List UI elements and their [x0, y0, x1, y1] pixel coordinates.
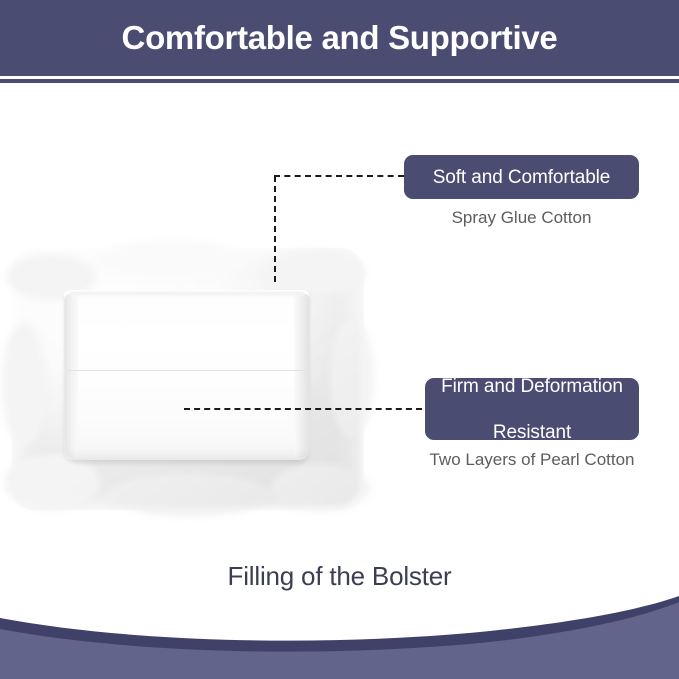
callout-2-label-line1: Firm and Deformation — [441, 375, 623, 398]
callout-2-label-line2: Resistant — [441, 421, 623, 444]
leader-line-1-vertical — [274, 176, 276, 282]
inner-cushion-top-fold — [70, 292, 304, 296]
header-banner: Comfortable and Supportive — [0, 0, 679, 76]
leader-line-1-horizontal — [274, 175, 404, 177]
inner-cushion-left-bevel — [64, 294, 78, 458]
callout-1-sublabel: Spray Glue Cotton — [404, 208, 639, 228]
callout-badge-firm-and-deformation-resistant: Firm and DeformationResistant — [425, 378, 639, 440]
bottom-caption: Filling of the Bolster — [0, 561, 679, 592]
bolster-filling-illustration — [12, 248, 364, 510]
callout-badge-soft-and-comfortable: Soft and Comfortable — [404, 155, 639, 199]
inner-cushion-seam-line — [68, 370, 306, 371]
callout-2-sublabel: Two Layers of Pearl Cotton — [404, 450, 660, 470]
page-title: Comfortable and Supportive — [122, 21, 558, 56]
inner-cushion-right-bevel — [294, 294, 310, 458]
leader-line-2-horizontal — [184, 408, 422, 410]
callout-2-label: Firm and DeformationResistant — [441, 375, 623, 444]
callout-1-label: Soft and Comfortable — [433, 166, 611, 189]
header-accent-rule — [0, 79, 679, 83]
inner-cushion-base-shadow — [68, 448, 308, 464]
footer-wave-decoration — [0, 596, 679, 679]
inner-cushion-layer — [64, 290, 309, 460]
